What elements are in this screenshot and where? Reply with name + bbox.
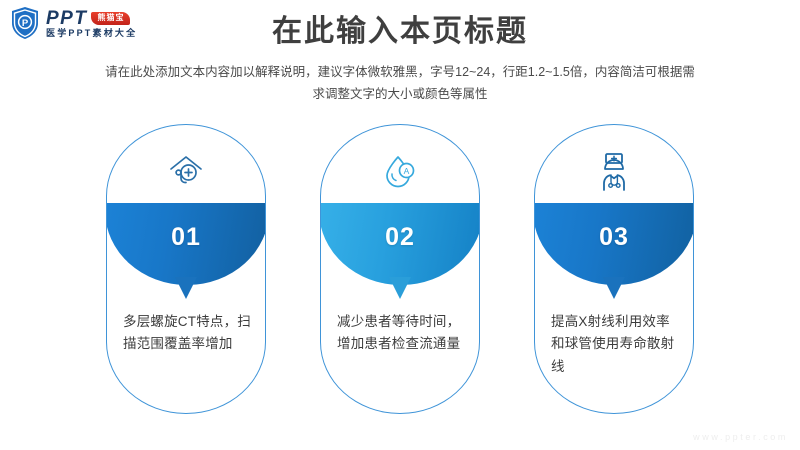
card-dome-tail: [389, 277, 411, 299]
blood-drop-type-a-icon: A: [321, 141, 479, 203]
footer-watermark: www.ppter.com: [693, 432, 788, 442]
svg-text:A: A: [404, 166, 410, 176]
clinic-stethoscope-icon: [107, 141, 265, 203]
card-body-text: 减少患者等待时间，增加患者检查流通量: [337, 311, 465, 356]
card-body-text: 多层螺旋CT特点，扫描范围覆盖率增加: [123, 311, 251, 356]
card-number: 02: [321, 223, 479, 252]
doctor-stethoscope-icon: [535, 141, 693, 203]
card-body-text: 提高X射线利用效率和球管使用寿命散射线: [551, 311, 679, 378]
card-number: 01: [107, 223, 265, 252]
card-number: 03: [535, 223, 693, 252]
card-item-03[interactable]: 03 提高X射线利用效率和球管使用寿命散射线: [534, 124, 694, 414]
card-dome-tail: [603, 277, 625, 299]
page-subtitle: 请在此处添加文本内容加以解释说明，建议字体微软雅黑，字号12~24，行距1.2~…: [100, 62, 700, 106]
card-item-01[interactable]: 01 多层螺旋CT特点，扫描范围覆盖率增加: [106, 124, 266, 414]
page-title: 在此输入本页标题: [0, 14, 800, 50]
card-item-02[interactable]: A 02 减少患者等待时间，增加患者检查流通量: [320, 124, 480, 414]
card-dome-tail: [175, 277, 197, 299]
card-list: 01 多层螺旋CT特点，扫描范围覆盖率增加 A 02 减少患者等待时间，增加患者…: [0, 124, 800, 424]
